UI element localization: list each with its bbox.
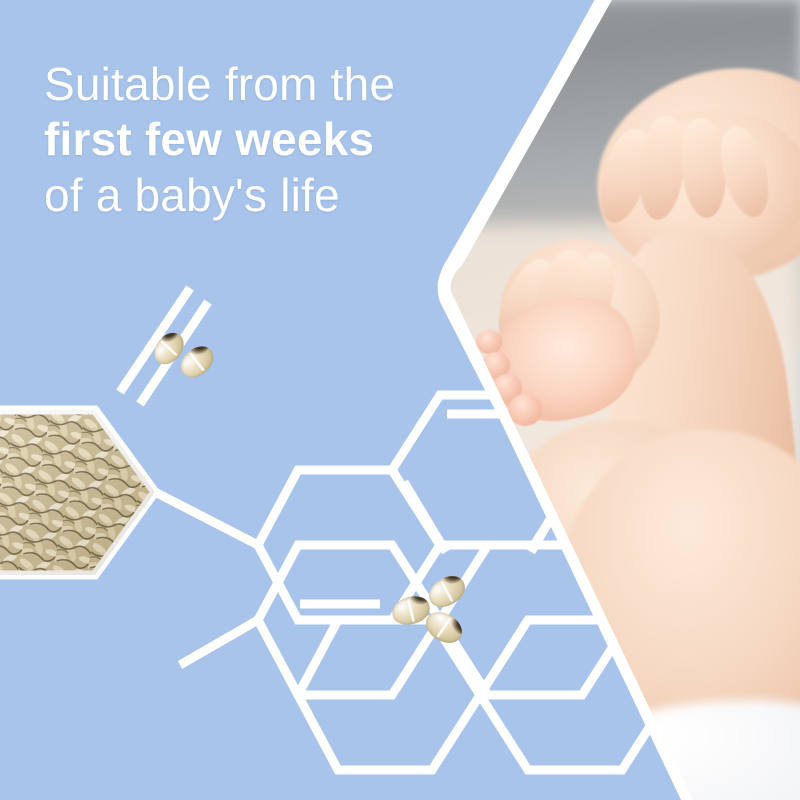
baby-toe-1	[476, 330, 502, 354]
baby-toe-4	[508, 394, 542, 426]
page-title: Suitable from the first few weeks of a b…	[44, 58, 395, 222]
headline-line-1: Suitable from the	[44, 58, 395, 111]
headline-line-3: of a baby's life	[44, 169, 395, 222]
headline-line-2: first few weeks	[44, 113, 395, 166]
promo-banner: Suitable from the first few weeks of a b…	[0, 0, 800, 800]
